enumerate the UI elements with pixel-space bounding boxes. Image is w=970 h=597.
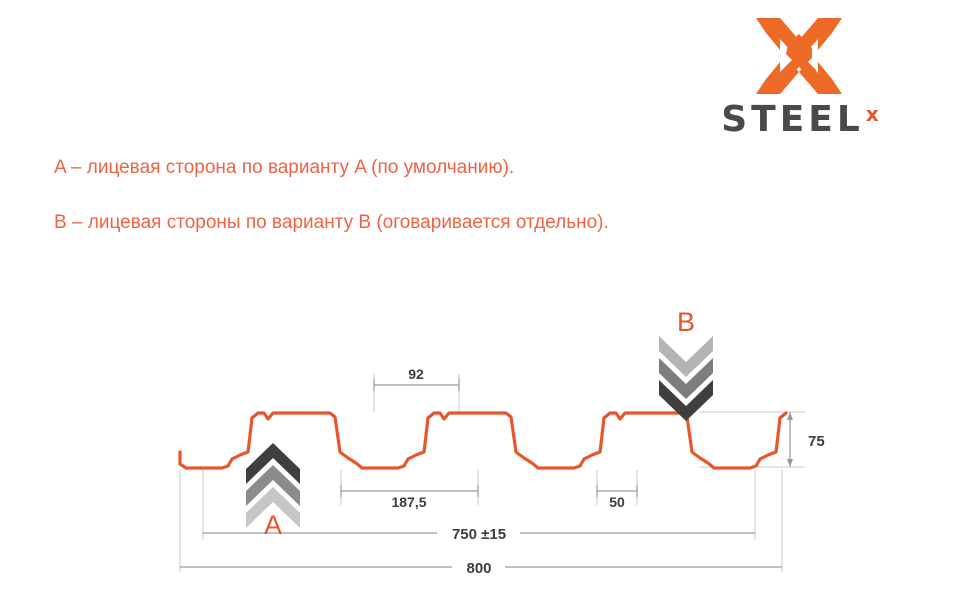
steelx-x-mark-icon [756, 18, 842, 94]
chevron-down-stack-icon [659, 336, 713, 421]
side-b-label: B [677, 307, 695, 337]
dimension-label-187-5: 187,5 [391, 494, 426, 510]
brand-logo: STEELx [684, 18, 914, 143]
logo-wordmark-text: STEEL [721, 99, 864, 140]
dimension-label-800: 800 [466, 560, 491, 577]
note-variant-b: B – лицевая стороны по варианту B (огова… [54, 210, 814, 236]
note-variant-a: A – лицевая сторона по варианту A (по ум… [54, 155, 814, 181]
dimension-label-92: 92 [408, 366, 424, 382]
profile-technical-drawing: A B 92 187,5 50 750 ±15 800 75 [0, 280, 970, 597]
dimension-label-750: 750 ±15 [452, 526, 506, 543]
side-a-label: A [264, 510, 282, 540]
dimension-label-75: 75 [808, 433, 825, 450]
logo-wordmark: STEELx [684, 99, 914, 143]
logo-superscript-x: x [866, 102, 879, 126]
dimension-label-50: 50 [609, 494, 625, 510]
notes-block: A – лицевая сторона по варианту A (по ум… [54, 155, 814, 236]
